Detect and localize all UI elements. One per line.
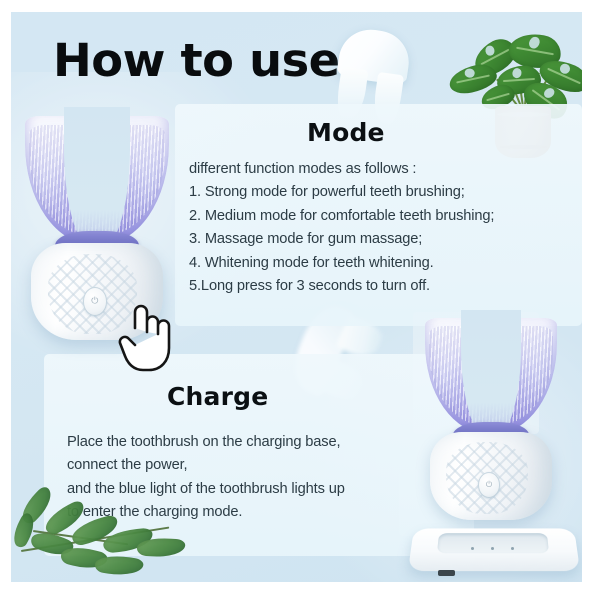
charge-body-text: Place the toothbrush on the charging bas… bbox=[67, 430, 345, 524]
plant-leaf bbox=[447, 61, 499, 96]
power-button-icon: ⏻ bbox=[83, 287, 107, 316]
power-glyph: ⏻ bbox=[486, 481, 492, 489]
charging-base-tray bbox=[437, 533, 549, 553]
mode-body-text: different function modes as follows : 1.… bbox=[189, 157, 494, 297]
tooth-crown bbox=[336, 26, 412, 86]
charge-heading: Charge bbox=[167, 382, 268, 411]
plant-leaf bbox=[469, 33, 522, 80]
charging-base bbox=[411, 520, 577, 582]
mouthpiece-notch bbox=[64, 107, 130, 254]
power-glyph: ⏻ bbox=[91, 297, 98, 306]
page-title: How to use bbox=[53, 38, 340, 83]
silicone-mouthpiece bbox=[25, 116, 169, 245]
branch-leaf bbox=[94, 553, 144, 578]
charging-pin bbox=[511, 547, 514, 550]
bristle-texture bbox=[29, 125, 164, 236]
poster-canvas: How to use Mode different func bbox=[11, 12, 582, 582]
charging-pin bbox=[491, 547, 494, 550]
hand-pointer-cursor bbox=[117, 298, 177, 374]
charging-pin bbox=[471, 547, 474, 550]
mode-heading: Mode bbox=[307, 118, 385, 147]
mouthpiece-neck bbox=[55, 231, 139, 255]
plant-leaf bbox=[535, 53, 582, 99]
branch-leaf bbox=[11, 511, 39, 549]
plant-leaf bbox=[496, 64, 542, 95]
power-button-icon: ⏻ bbox=[478, 472, 500, 498]
plant-leaf bbox=[506, 30, 563, 73]
usb-port bbox=[438, 570, 455, 576]
